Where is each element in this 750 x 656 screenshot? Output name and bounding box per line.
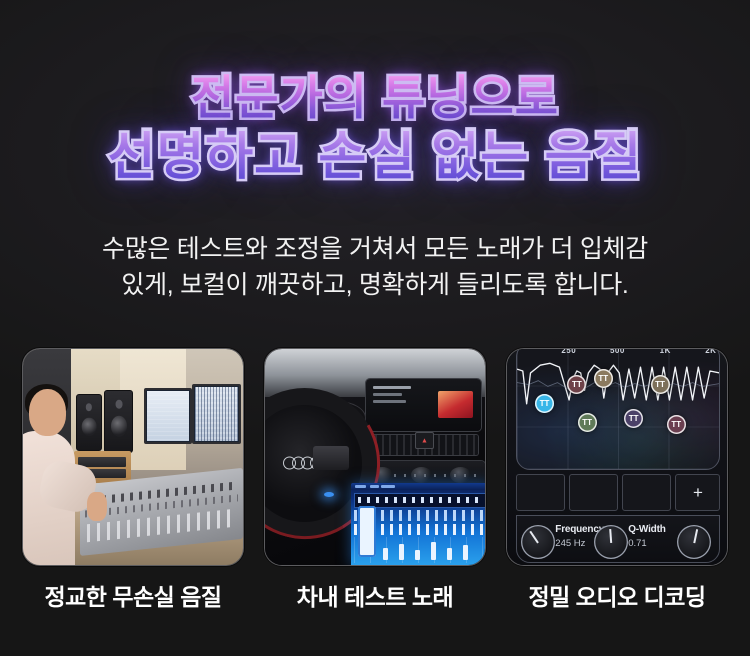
feature-card-studio[interactable] <box>22 348 244 566</box>
car-photo <box>265 349 485 565</box>
subtitle-line-1: 수많은 테스트와 조정을 거쳐서 모든 노래가 더 입체감 <box>24 232 726 268</box>
eq-frequency-graph[interactable]: 250 500 1K 2K TT TT TT TT TT TT TT <box>516 348 721 470</box>
eq-slot-1[interactable] <box>516 474 565 511</box>
caption-car: 차내 테스트 노래 <box>264 578 486 612</box>
headline-block: 전문가의 튜닝으로 전문가의 튜닝으로 선명하고 손실 없는 음질 선명하고 손… <box>0 74 750 183</box>
promo-banner: 전문가의 튜닝으로 전문가의 튜닝으로 선명하고 손실 없는 음질 선명하고 손… <box>0 0 750 656</box>
eq-band-node-3[interactable]: TT <box>594 369 613 388</box>
eq-band-node-4[interactable]: TT <box>578 413 597 432</box>
eq-qwidth-control: Q-Width 0.71 <box>628 524 665 549</box>
eq-band-node-7[interactable]: TT <box>667 415 686 434</box>
subtitle-line-2: 있게, 보컬이 깨끗하고, 명확하게 들리도록 합니다. <box>24 268 726 304</box>
subtitle-block: 수많은 테스트와 조정을 거쳐서 모든 노래가 더 입체감 있게, 보컬이 깨끗… <box>24 232 726 303</box>
caption-row: 정교한 무손실 음질 차내 테스트 노래 정밀 오디오 디코딩 <box>22 578 728 612</box>
headline-line-2-fill: 선명하고 손실 없는 음질 <box>108 131 643 183</box>
headline-line-2: 선명하고 손실 없는 음질 선명하고 손실 없는 음질 <box>0 131 750 183</box>
studio-monitor-right <box>192 384 240 444</box>
caption-studio: 정교한 무손실 음질 <box>22 578 244 612</box>
studio-monitor-left <box>144 388 192 444</box>
eq-knob-middle[interactable] <box>594 525 628 559</box>
phone-icon <box>358 506 376 557</box>
caption-eq: 정밀 오디오 디코딩 <box>506 578 728 612</box>
eq-qwidth-value: 0.71 <box>628 538 665 549</box>
equalizer-photo: 250 500 1K 2K TT TT TT TT TT TT TT <box>507 349 727 565</box>
eq-band-node-1[interactable]: TT <box>535 394 554 413</box>
studio-speaker-right <box>104 390 133 453</box>
eq-slot-2[interactable] <box>569 474 618 511</box>
feature-card-row: 250 500 1K 2K TT TT TT TT TT TT TT <box>22 348 728 566</box>
eq-knob-right[interactable] <box>677 525 711 559</box>
eq-band-node-6[interactable]: TT <box>651 375 670 394</box>
headline-line-1: 전문가의 튜닝으로 전문가의 튜닝으로 <box>0 74 750 121</box>
eq-band-slots: + <box>516 474 721 511</box>
feature-card-car[interactable] <box>264 348 486 566</box>
studio-engineer <box>22 384 93 565</box>
eq-qwidth-label: Q-Width <box>628 524 665 535</box>
feature-card-eq[interactable]: 250 500 1K 2K TT TT TT TT TT TT TT <box>506 348 728 566</box>
eq-band-node-5[interactable]: TT <box>624 409 643 428</box>
eq-slot-3[interactable] <box>622 474 671 511</box>
studio-photo <box>23 349 243 565</box>
eq-add-band-button[interactable]: + <box>675 474 720 511</box>
audio-mixer-window <box>351 483 486 565</box>
eq-control-bar: Frequency 245 Hz Q-Width 0.71 <box>516 515 721 563</box>
headline-line-1-fill: 전문가의 튜닝으로 <box>191 74 559 121</box>
hazard-light-button <box>415 432 435 449</box>
eq-knob-left[interactable] <box>521 525 555 559</box>
infotainment-screen <box>366 379 480 431</box>
album-art <box>438 391 472 418</box>
